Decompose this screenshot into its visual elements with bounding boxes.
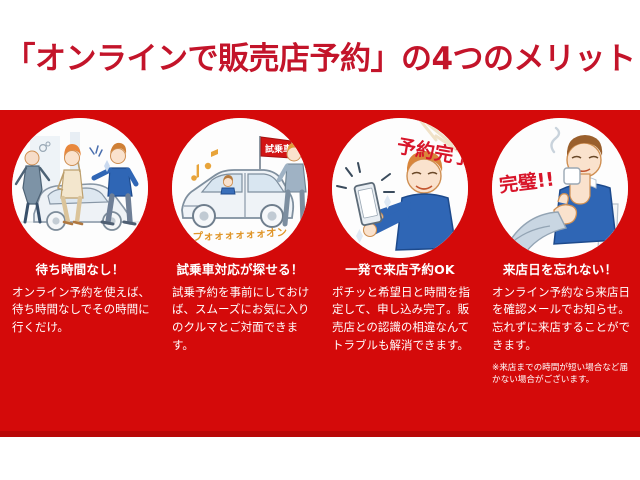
panel-4-heading: 来店日を忘れない！	[480, 262, 640, 278]
illustration-wrap-1	[0, 110, 160, 260]
panel-4-body: オンライン予約なら来店日を確認メールでお知らせ。忘れずに来店することができます。	[480, 284, 640, 355]
panel-3-body: ポチッと希望日と時間を指定して、申し込み完了。販売店との認識の相違なんてトラブル…	[320, 284, 480, 355]
illustration-wrap-2: 試乗車	[160, 110, 320, 260]
benefit-panels: 待ち時間なし！ オンライン予約を使えば、待ち時間なしでその時間に行くだけ。	[0, 110, 640, 437]
relaxed-man-thumbs-up-icon: 完璧!!	[492, 118, 628, 258]
man-with-smartphone-booking-done-icon: 予約完了	[332, 118, 468, 258]
illustration-circle-2: 試乗車	[172, 118, 308, 258]
panel-3-heading: 一発で来店予約OK	[320, 262, 480, 278]
panel-2-heading: 試乗車対応が探せる！	[160, 262, 320, 278]
benefit-panel-1: 待ち時間なし！ オンライン予約を使えば、待ち時間なしでその時間に行くだけ。	[0, 110, 160, 437]
illustration-wrap-4: 完璧!!	[480, 110, 640, 260]
benefit-panel-3: 予約完了 一発で来店予約OK ポチッと希望日と時間を指定して、申し込み完了。販売…	[320, 110, 480, 437]
benefit-panel-4: 完璧!! 来店日を忘れない！ オンライン予約なら来店日を確認メールでお知らせ。忘…	[480, 110, 640, 437]
panel-4-note: ※来店までの時間が短い場合など届かない場合がございます。	[480, 362, 640, 387]
page-title: 「オンラインで販売店予約」の4つのメリット	[4, 33, 635, 78]
illustration-circle-4: 完璧!!	[492, 118, 628, 258]
test-drive-car-with-flag-icon: 試乗車	[172, 118, 308, 258]
title-zone: 「オンラインで販売店予約」の4つのメリット	[0, 0, 640, 110]
illustration-wrap-3: 予約完了	[320, 110, 480, 260]
promo-poster: 「オンラインで販売店予約」の4つのメリット	[0, 0, 640, 480]
panel-1-body: オンライン予約を使えば、待ち時間なしでその時間に行くだけ。	[0, 284, 160, 337]
showroom-customers-waiting-icon	[12, 118, 148, 258]
benefit-panel-2: 試乗車	[160, 110, 320, 437]
illustration-circle-3: 予約完了	[332, 118, 468, 258]
panel-1-heading: 待ち時間なし！	[0, 262, 160, 278]
illustration-circle-1	[12, 118, 148, 258]
panel-2-body: 試乗予約を事前にしておけば、スムーズにお気に入りのクルマとご対面できます。	[160, 284, 320, 355]
bottom-white-margin	[0, 437, 640, 480]
